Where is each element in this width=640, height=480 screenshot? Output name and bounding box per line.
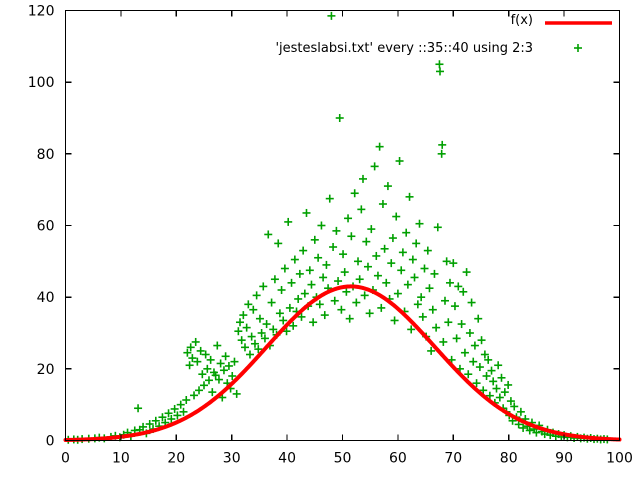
- x-tick-label-50: 50: [334, 451, 352, 467]
- y-tick-label-100: 100: [28, 75, 55, 91]
- y-tick-label-0: 0: [46, 434, 55, 450]
- y-tick-label-120: 120: [28, 4, 55, 20]
- x-tick-label-40: 40: [278, 451, 296, 467]
- x-tick-label-70: 70: [444, 451, 462, 467]
- legend-entry-datafile-label: 'jesteslabsi.txt' every ::35::40 using 2…: [275, 41, 533, 56]
- y-tick-label-80: 80: [37, 147, 55, 163]
- plot-canvas: 0102030405060708090100 020406080100120 f…: [0, 0, 640, 480]
- y-tick-label-60: 60: [37, 219, 55, 235]
- legend-entry-fx-label: f(x): [511, 13, 533, 28]
- gnuplot-figure: 0102030405060708090100 020406080100120 f…: [0, 0, 640, 480]
- y-tick-label-40: 40: [37, 290, 55, 306]
- x-tick-label-60: 60: [389, 451, 407, 467]
- x-tick-label-20: 20: [167, 451, 185, 467]
- x-tick-label-30: 30: [223, 451, 241, 467]
- x-tick-label-100: 100: [606, 451, 633, 467]
- canvas-background: [0, 0, 640, 480]
- y-tick-label-20: 20: [37, 362, 55, 378]
- x-tick-label-80: 80: [500, 451, 518, 467]
- x-tick-label-90: 90: [555, 451, 573, 467]
- x-tick-label-0: 0: [61, 451, 70, 467]
- x-tick-label-10: 10: [112, 451, 130, 467]
